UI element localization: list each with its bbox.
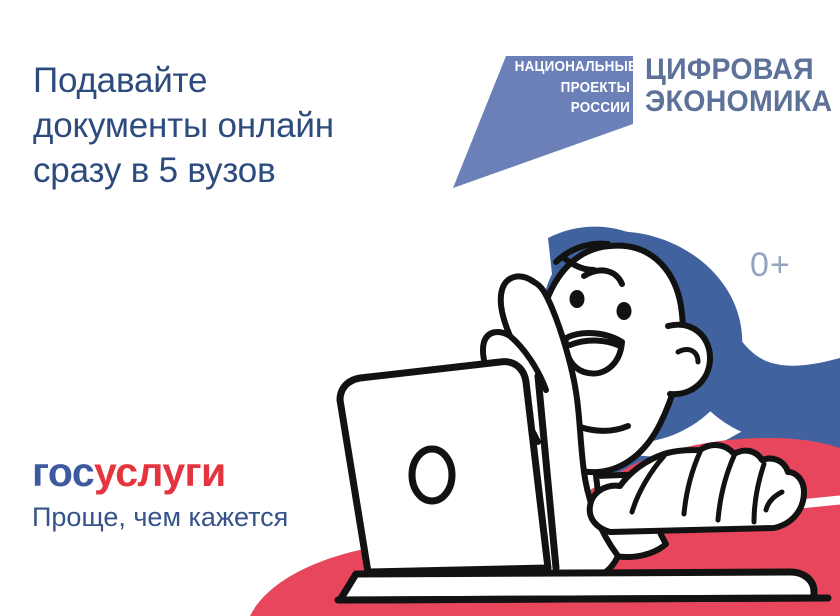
brand-tagline: Проще, чем кажется: [32, 501, 288, 533]
de-line-2: ЭКОНОМИКА: [645, 86, 832, 118]
brand-name-part-1: гос: [32, 449, 94, 495]
brand-wordmark: госуслуги: [32, 449, 288, 495]
de-line-1: ЦИФРОВАЯ: [645, 54, 832, 86]
national-projects-text: НАЦИОНАЛЬНЫЕ ПРОЕКТЫ РОССИИ: [515, 57, 630, 119]
np-line-1: НАЦИОНАЛЬНЫЕ: [515, 57, 630, 78]
illustration-woman-with-laptop: [0, 180, 840, 616]
gosuslugi-promo-banner: Подавайте документы онлайн сразу в 5 вуз…: [0, 0, 840, 616]
np-line-2: ПРОЕКТЫ: [515, 78, 630, 99]
laptop-logo-oval: [412, 449, 452, 501]
np-line-3: РОССИИ: [515, 98, 630, 119]
page-title: Подавайте документы онлайн сразу в 5 вуз…: [33, 58, 433, 193]
brand-name-part-2: услуги: [94, 449, 226, 495]
digital-economy-text: ЦИФРОВАЯ ЭКОНОМИКА: [645, 54, 832, 118]
gosuslugi-brand: госуслуги Проще, чем кажется: [32, 449, 288, 533]
